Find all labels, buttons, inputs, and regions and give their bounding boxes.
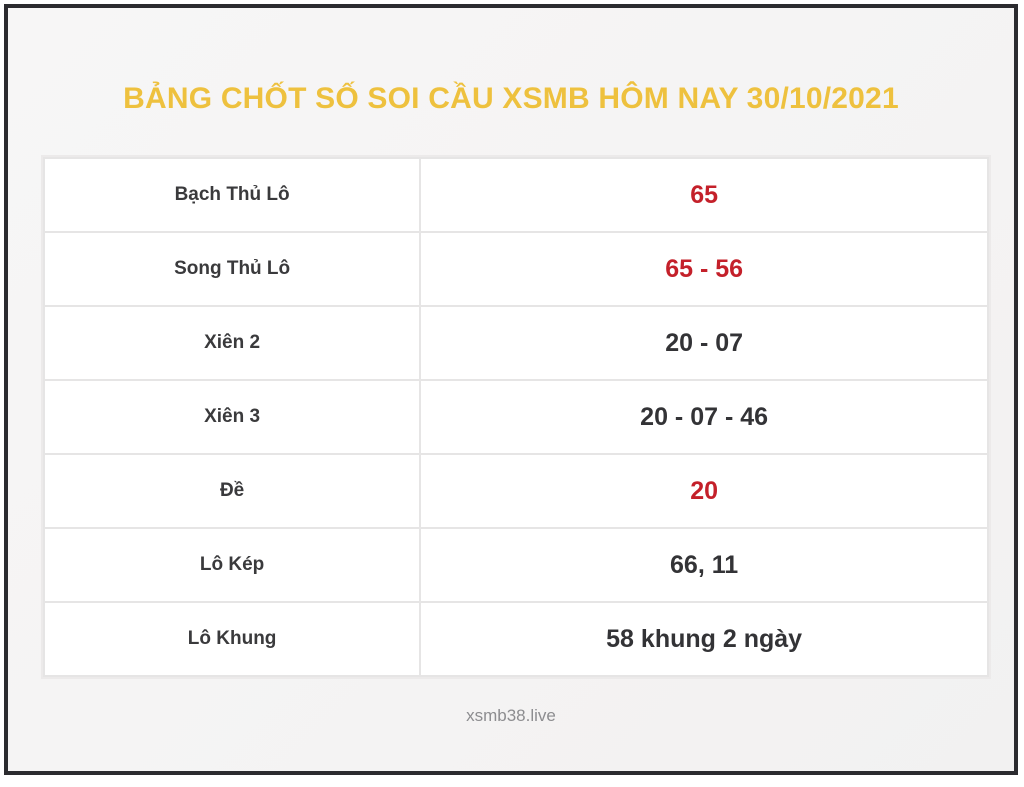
table-row: Bạch Thủ Lô 65 bbox=[44, 158, 988, 232]
site-watermark: xsmb38.live bbox=[8, 706, 1014, 726]
row-label: Lô Khung bbox=[44, 602, 420, 676]
row-label: Bạch Thủ Lô bbox=[44, 158, 420, 232]
row-value: 20 - 07 bbox=[420, 306, 988, 380]
table-row: Lô Khung 58 khung 2 ngày bbox=[44, 602, 988, 676]
image-frame: BẢNG CHỐT SỐ SOI CẦU XSMB HÔM NAY 30/10/… bbox=[4, 4, 1018, 775]
row-value: 66, 11 bbox=[420, 528, 988, 602]
table-row: Song Thủ Lô 65 - 56 bbox=[44, 232, 988, 306]
row-value: 65 bbox=[420, 158, 988, 232]
row-label: Đề bbox=[44, 454, 420, 528]
table-row: Lô Kép 66, 11 bbox=[44, 528, 988, 602]
prediction-table-body: Bạch Thủ Lô 65 Song Thủ Lô 65 - 56 Xiên … bbox=[44, 158, 988, 676]
row-value: 20 - 07 - 46 bbox=[420, 380, 988, 454]
row-label: Xiên 3 bbox=[44, 380, 420, 454]
row-value: 65 - 56 bbox=[420, 232, 988, 306]
row-value: 20 bbox=[420, 454, 988, 528]
table-row: Xiên 2 20 - 07 bbox=[44, 306, 988, 380]
row-value: 58 khung 2 ngày bbox=[420, 602, 988, 676]
row-label: Xiên 2 bbox=[44, 306, 420, 380]
page-title: BẢNG CHỐT SỐ SOI CẦU XSMB HÔM NAY 30/10/… bbox=[8, 82, 1014, 116]
table-row: Đề 20 bbox=[44, 454, 988, 528]
row-label: Lô Kép bbox=[44, 528, 420, 602]
row-label: Song Thủ Lô bbox=[44, 232, 420, 306]
prediction-table: Bạch Thủ Lô 65 Song Thủ Lô 65 - 56 Xiên … bbox=[43, 157, 989, 677]
page-canvas: BẢNG CHỐT SỐ SOI CẦU XSMB HÔM NAY 30/10/… bbox=[8, 8, 1014, 771]
table-row: Xiên 3 20 - 07 - 46 bbox=[44, 380, 988, 454]
